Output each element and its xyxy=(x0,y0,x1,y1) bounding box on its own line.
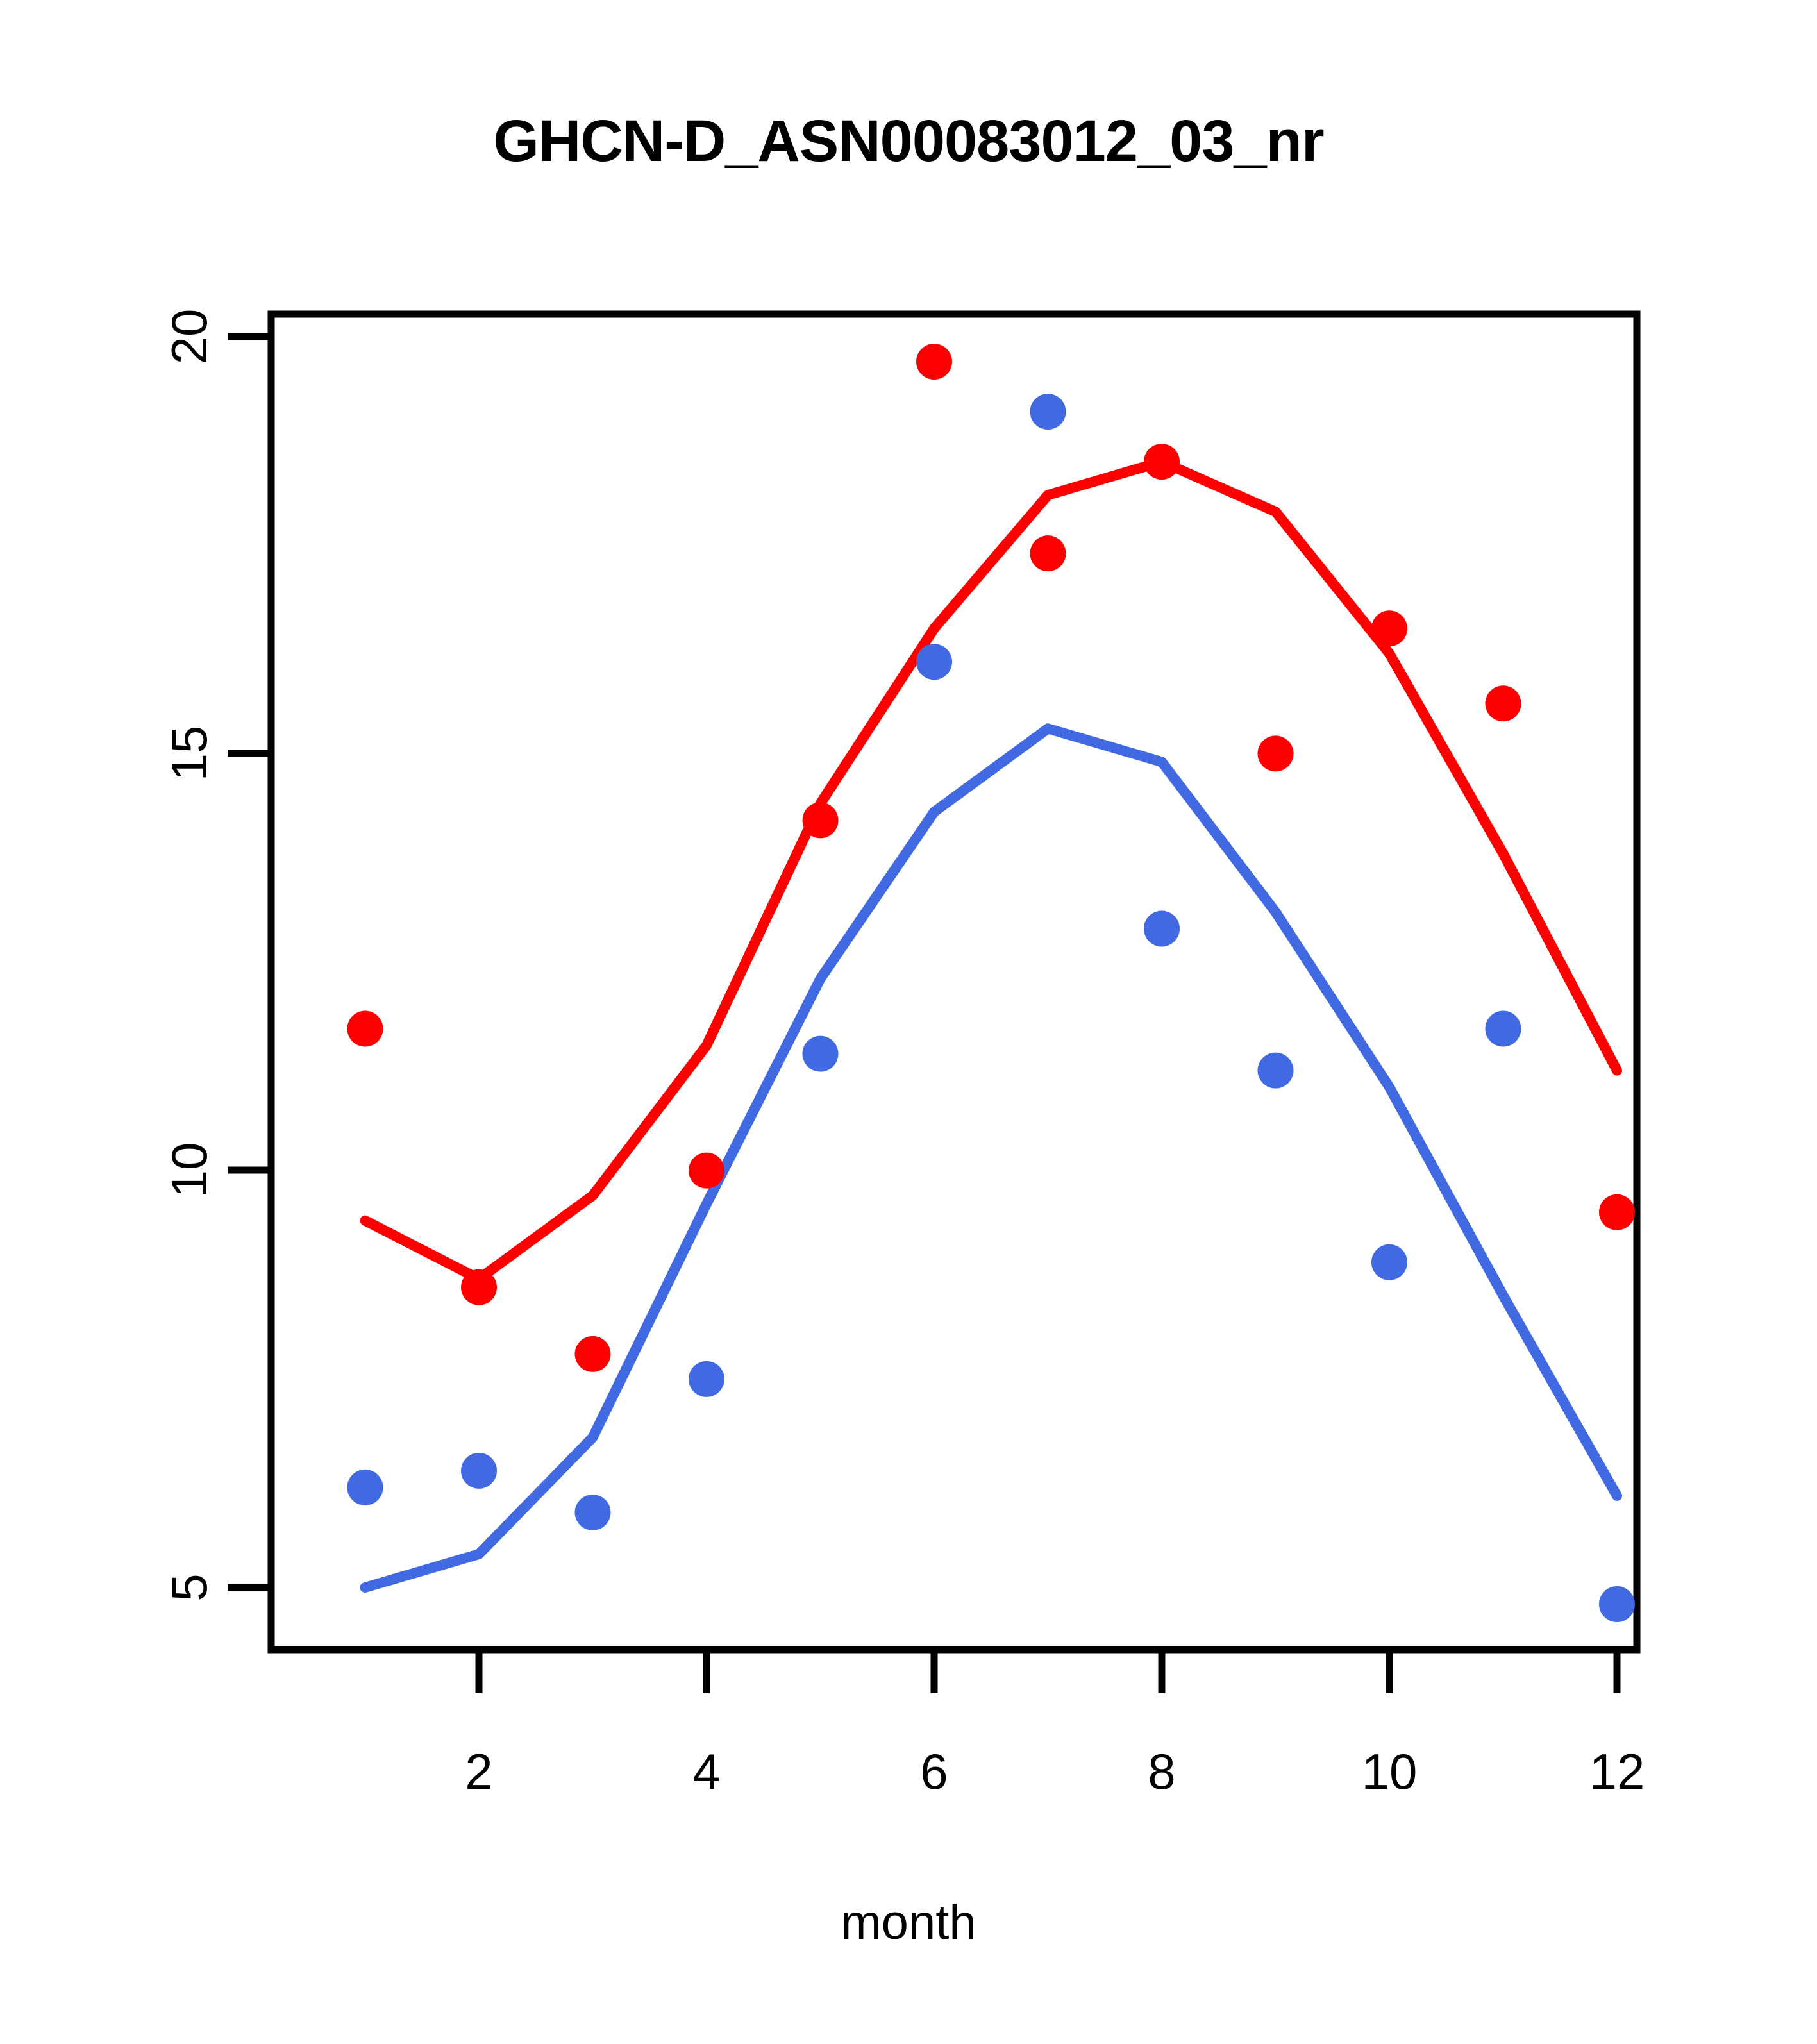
data-point-red-points xyxy=(347,1011,383,1047)
data-point-red-points xyxy=(461,1269,497,1305)
data-point-blue-points xyxy=(1599,1586,1635,1622)
series-line-blue-line xyxy=(365,728,1618,1587)
plot-frame xyxy=(271,314,1637,1650)
y-axis-ticks xyxy=(228,337,271,1587)
data-point-blue-points xyxy=(916,644,952,680)
data-point-red-points xyxy=(689,1153,724,1189)
data-point-red-points xyxy=(1599,1194,1635,1230)
y-axis-tick-labels: 20 15 10 5 xyxy=(161,309,217,1602)
y-tick-label: 10 xyxy=(161,1143,217,1198)
x-tick-label: 8 xyxy=(1148,1743,1175,1800)
data-point-red-points xyxy=(916,344,952,380)
x-axis-title: month xyxy=(0,1895,1817,1950)
data-point-red-points xyxy=(803,802,839,838)
x-axis-ticks xyxy=(479,1650,1617,1693)
x-tick-label: 6 xyxy=(920,1743,948,1800)
data-point-red-points xyxy=(1486,685,1521,721)
data-point-blue-points xyxy=(1258,1053,1294,1089)
y-tick-label: 15 xyxy=(161,726,217,782)
data-point-red-points xyxy=(575,1336,611,1372)
x-tick-label: 2 xyxy=(465,1743,492,1800)
x-tick-label: 10 xyxy=(1362,1743,1418,1800)
y-tick-label: 5 xyxy=(161,1573,217,1601)
chart-page: GHCN-D_ASN00083012_03_nr 20 15 10 5 xyxy=(0,0,1817,2044)
data-point-blue-points xyxy=(803,1036,839,1072)
data-layer xyxy=(347,344,1636,1622)
x-tick-label: 4 xyxy=(692,1743,720,1800)
y-tick-label: 20 xyxy=(161,309,217,365)
data-point-blue-points xyxy=(1144,910,1180,946)
data-point-blue-points xyxy=(689,1361,724,1397)
plot-area: 20 15 10 5 2 4 6 8 10 12 xyxy=(0,0,1817,2044)
data-point-red-points xyxy=(1258,735,1294,771)
data-point-red-points xyxy=(1030,535,1066,571)
x-axis-tick-labels: 2 4 6 8 10 12 xyxy=(465,1743,1645,1800)
data-point-blue-points xyxy=(1030,394,1066,430)
data-point-blue-points xyxy=(1486,1011,1521,1047)
data-point-blue-points xyxy=(461,1453,497,1489)
data-point-blue-points xyxy=(347,1470,383,1505)
data-point-blue-points xyxy=(575,1495,611,1530)
data-point-red-points xyxy=(1144,444,1180,480)
data-point-red-points xyxy=(1371,610,1407,646)
x-tick-label: 12 xyxy=(1589,1743,1645,1800)
data-point-blue-points xyxy=(1371,1244,1407,1280)
